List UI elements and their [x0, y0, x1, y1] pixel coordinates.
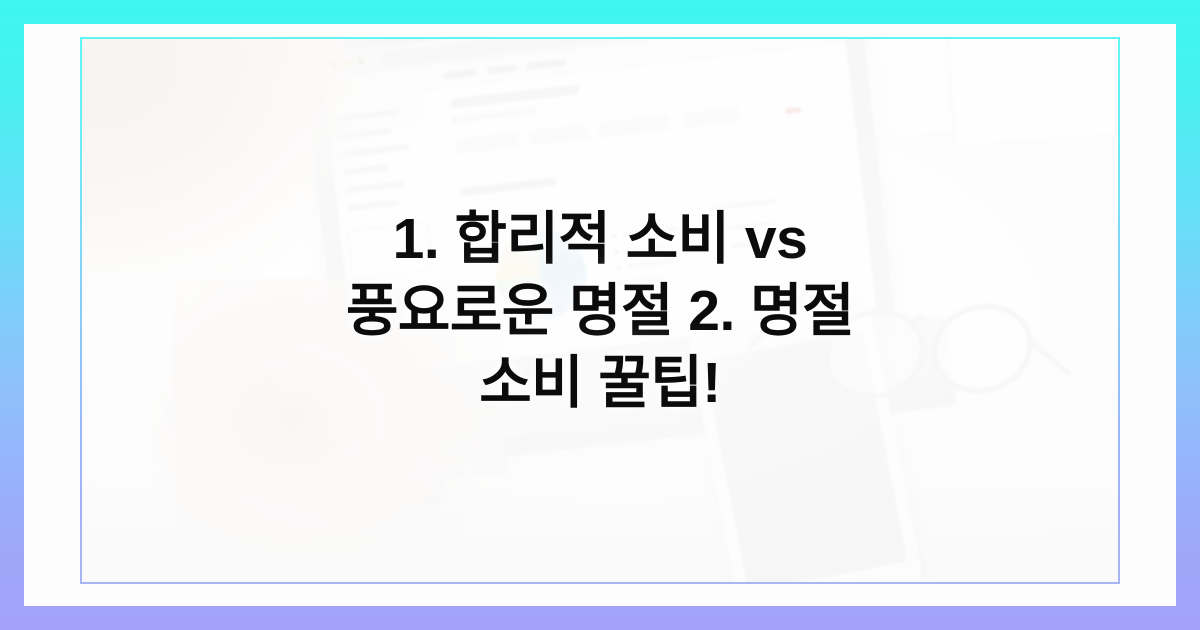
inner-hairline-frame — [80, 37, 1120, 584]
thumbnail-card: 1. 합리적 소비 vs 풍요로운 명절 2. 명절 소비 꿀팁! — [0, 0, 1200, 630]
